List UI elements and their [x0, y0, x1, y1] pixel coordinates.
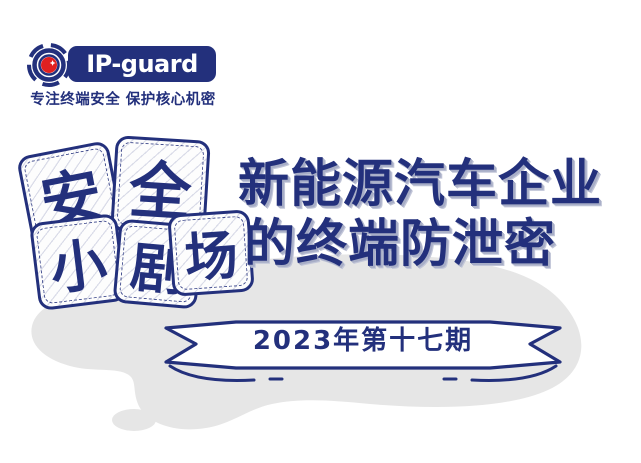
- series-title-tiles: 安 全 小 剧 场: [20, 138, 245, 313]
- headline-line-2: 的终端防泄密: [244, 215, 638, 275]
- headline-line-1: 新能源汽车企业: [238, 155, 638, 215]
- brand-tagline: 专注终端安全 保护核心机密: [18, 88, 228, 109]
- tile-glyph: 小: [32, 216, 123, 307]
- target-eye-icon: [26, 42, 72, 88]
- tile-xiao: 小: [29, 213, 127, 311]
- brand-logo: IP-guard 专注终端安全 保护核心机密: [18, 38, 228, 116]
- headline: 新能源汽车企业 的终端防泄密: [238, 155, 638, 275]
- issue-label: 2023年第十七期: [158, 316, 568, 366]
- wordmark-text: IP-guard: [68, 46, 216, 82]
- poster-canvas: IP-guard 专注终端安全 保护核心机密 安 全 小 剧: [0, 0, 641, 463]
- wordmark-plate: IP-guard: [68, 46, 216, 82]
- issue-ribbon: 2023年第十七期: [158, 316, 568, 384]
